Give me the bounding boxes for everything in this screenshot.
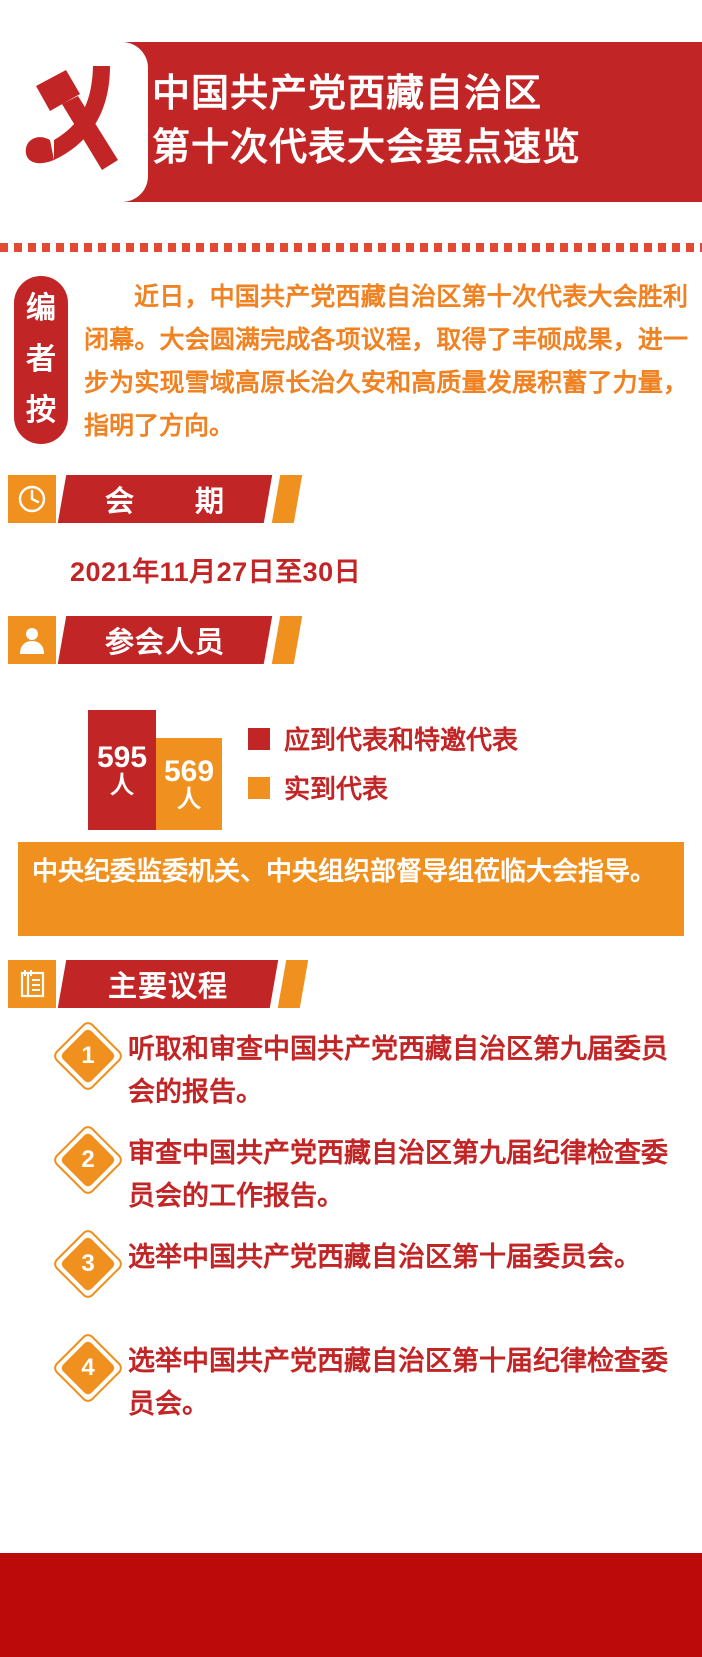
- party-emblem-hammer-sickle-icon: [14, 56, 134, 188]
- agenda-number-badge: 3: [62, 1238, 114, 1290]
- notebook-icon: [8, 960, 56, 1008]
- agenda-number: 1: [62, 1030, 114, 1082]
- bar-unit-actual: 人: [177, 787, 201, 812]
- bar-actual-delegates: 569 人: [156, 738, 222, 830]
- agenda-text: 听取和审查中国共产党西藏自治区第九届委员会的报告。: [128, 1028, 668, 1114]
- bar-expected-delegates: 595 人: [88, 710, 156, 830]
- agenda-text: 审查中国共产党西藏自治区第九届纪律检查委员会的工作报告。: [128, 1132, 668, 1218]
- dotted-divider: [0, 243, 702, 252]
- legend-item-actual: 实到代表: [248, 769, 518, 806]
- page-title-line1: 中国共产党西藏自治区: [152, 68, 700, 122]
- infographic-page: 中国共产党西藏自治区 第十次代表大会要点速览 编 者 按 近日，中国共产党西藏自…: [0, 0, 702, 1657]
- page-title: 中国共产党西藏自治区 第十次代表大会要点速览: [152, 56, 700, 188]
- footer-bar: [0, 1553, 702, 1657]
- section-title-meeting-period: 会 期: [58, 475, 272, 523]
- section-title-agenda: 主要议程: [58, 960, 278, 1008]
- legend-swatch-actual: [248, 777, 270, 799]
- chart-legend: 应到代表和特邀代表 实到代表: [248, 720, 518, 818]
- emblem-plate: [0, 42, 148, 202]
- editor-note: 编 者 按 近日，中国共产党西藏自治区第十次代表大会胜利闭幕。大会圆满完成各项议…: [0, 276, 702, 456]
- agenda-number-badge: 1: [62, 1030, 114, 1082]
- bar-value-expected: 595: [97, 742, 147, 774]
- agenda-number-badge: 2: [62, 1134, 114, 1186]
- section-accent-agenda: [278, 960, 308, 1008]
- agenda-number-badge: 4: [62, 1342, 114, 1394]
- legend-label-expected: 应到代表和特邀代表: [284, 720, 518, 757]
- editor-note-char-3: 按: [26, 396, 56, 426]
- editor-note-char-2: 者: [26, 345, 56, 375]
- page-title-line2: 第十次代表大会要点速览: [152, 122, 700, 176]
- header-banner: 中国共产党西藏自治区 第十次代表大会要点速览: [0, 42, 702, 202]
- agenda-item: 3 选举中国共产党西藏自治区第十届委员会。: [0, 1236, 702, 1332]
- agenda-number: 4: [62, 1342, 114, 1394]
- agenda-text: 选举中国共产党西藏自治区第十届委员会。: [128, 1236, 668, 1279]
- bar-unit-expected: 人: [110, 773, 134, 798]
- clock-icon: [8, 475, 56, 523]
- agenda-list: 1 听取和审查中国共产党西藏自治区第九届委员会的报告。 2 审查中国共产党西藏自…: [0, 1028, 702, 1444]
- meeting-date-value: 2021年11月27日至30日: [70, 550, 361, 589]
- section-accent-attendees: [272, 616, 302, 664]
- bar-value-actual: 569: [164, 756, 214, 788]
- attendee-bar-chart: 595 人 569 人 应到代表和特邀代表 实到代表: [0, 690, 702, 830]
- editor-note-body: 近日，中国共产党西藏自治区第十次代表大会胜利闭幕。大会圆满完成各项议程，取得了丰…: [84, 276, 688, 448]
- legend-item-expected: 应到代表和特邀代表: [248, 720, 518, 757]
- editor-note-badge: 编 者 按: [14, 276, 68, 444]
- person-icon: [8, 616, 56, 664]
- editor-note-char-1: 编: [26, 294, 56, 324]
- section-accent-meeting-period: [272, 475, 302, 523]
- agenda-item: 4 选举中国共产党西藏自治区第十届纪律检查委员会。: [0, 1340, 702, 1436]
- legend-swatch-expected: [248, 728, 270, 750]
- attendees-callout: 中央纪委监委机关、中央组织部督导组莅临大会指导。: [18, 842, 684, 936]
- agenda-item: 1 听取和审查中国共产党西藏自治区第九届委员会的报告。: [0, 1028, 702, 1124]
- agenda-number: 2: [62, 1134, 114, 1186]
- agenda-item: 2 审查中国共产党西藏自治区第九届纪律检查委员会的工作报告。: [0, 1132, 702, 1228]
- agenda-text: 选举中国共产党西藏自治区第十届纪律检查委员会。: [128, 1340, 668, 1426]
- agenda-number: 3: [62, 1238, 114, 1290]
- section-title-attendees: 参会人员: [58, 616, 272, 664]
- legend-label-actual: 实到代表: [284, 769, 388, 806]
